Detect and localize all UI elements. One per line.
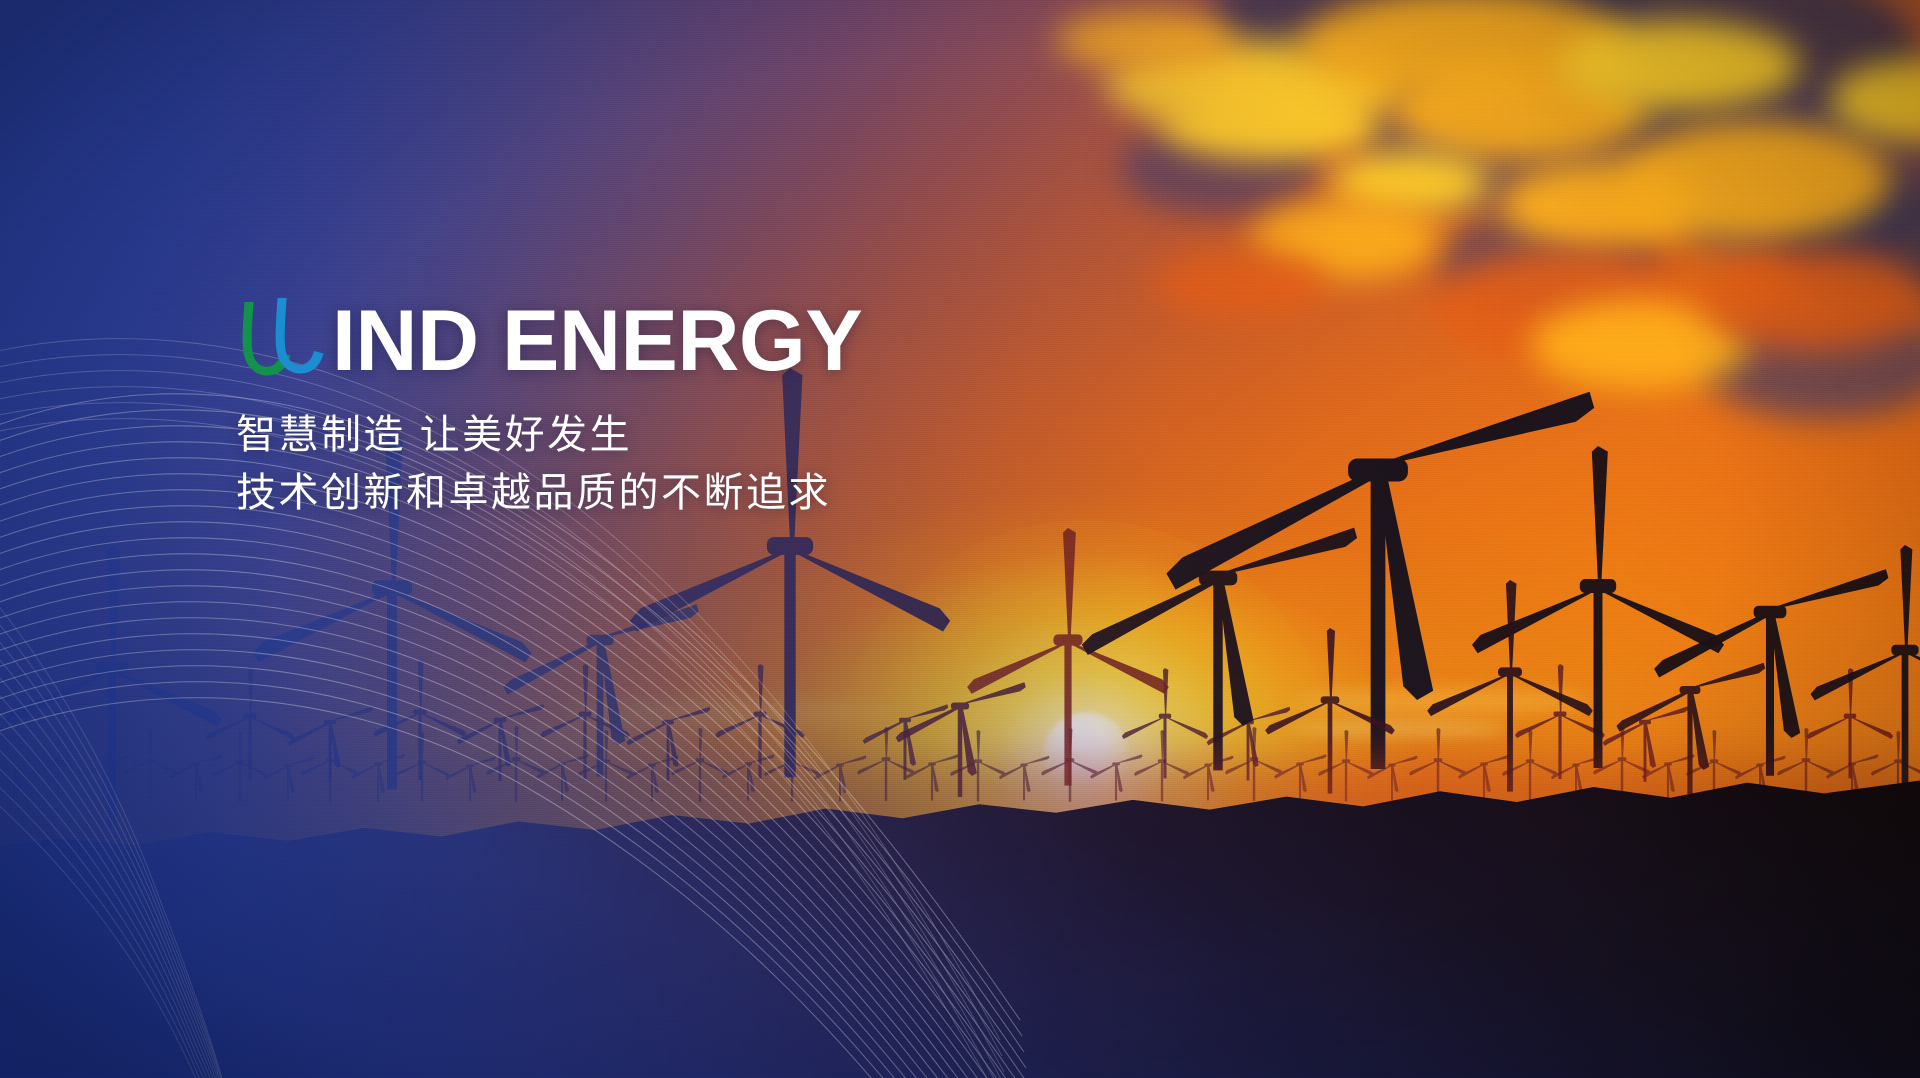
tagline-secondary: 技术创新和卓越品质的不断追求 [236,466,1136,520]
brand-wordmark: IND ENERGY [332,298,862,384]
brand-logo[interactable]: IND ENERGY [236,296,1136,384]
hero-content: IND ENERGY 智慧制造 让美好发生 技术创新和卓越品质的不断追求 [236,296,1136,520]
stylized-w-wind-logo-icon [236,296,330,384]
hero-banner: IND ENERGY 智慧制造 让美好发生 技术创新和卓越品质的不断追求 [0,0,1920,1078]
tagline-primary: 智慧制造 让美好发生 [236,408,1136,462]
brand-blue-bottom-overlay [0,0,1920,1078]
